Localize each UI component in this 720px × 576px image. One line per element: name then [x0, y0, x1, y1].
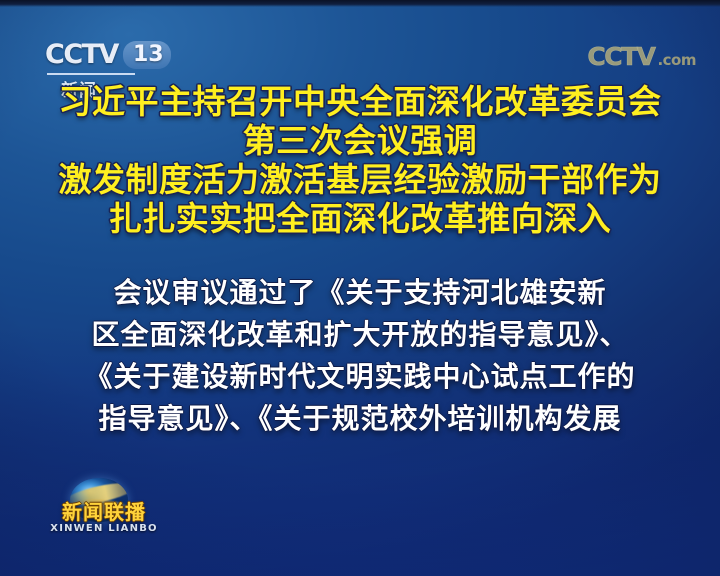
xinwen-lianbo-logo: 新闻联播 XINWEN LIANBO [48, 480, 160, 536]
cctv-wordmark: CCTV [45, 41, 118, 68]
headline-line-4: 扎扎实实把全面深化改革推向深入 [0, 199, 720, 238]
cctv-com-suffix: .com [657, 53, 696, 69]
broadcast-screen: CCTV 13 新闻 CCTV .com 习近平主持召开中央全面深化改革委员会 … [0, 0, 720, 576]
cctv-com-watermark: CCTV .com [587, 44, 696, 69]
news-body-text: 会议审议通过了《关于支持河北雄安新 区全面深化改革和扩大开放的指导意见》、 《关… [0, 272, 720, 440]
channel-number-badge: 13 [123, 41, 171, 69]
cctv13-underline-rule [47, 73, 135, 75]
body-line-3: 《关于建设新时代文明实践中心试点工作的 [0, 356, 720, 398]
headline-line-2: 第三次会议强调 [0, 121, 720, 160]
top-letterbox-band [0, 0, 720, 7]
news-headline: 习近平主持召开中央全面深化改革委员会 第三次会议强调 激发制度活力激活基层经验激… [0, 82, 720, 238]
headline-line-1: 习近平主持召开中央全面深化改革委员会 [0, 82, 720, 121]
cctv13-logo-row: CCTV 13 [45, 38, 185, 71]
body-line-4: 指导意见》、《关于规范校外培训机构发展 [0, 398, 720, 440]
body-line-2: 区全面深化改革和扩大开放的指导意见》、 [0, 314, 720, 356]
program-name-pinyin: XINWEN LIANBO [48, 524, 160, 534]
program-name-chinese: 新闻联播 [48, 502, 160, 522]
headline-line-3: 激发制度活力激活基层经验激励干部作为 [0, 160, 720, 199]
cctv-com-wordmark: CCTV [587, 44, 654, 69]
body-line-1: 会议审议通过了《关于支持河北雄安新 [0, 272, 720, 314]
